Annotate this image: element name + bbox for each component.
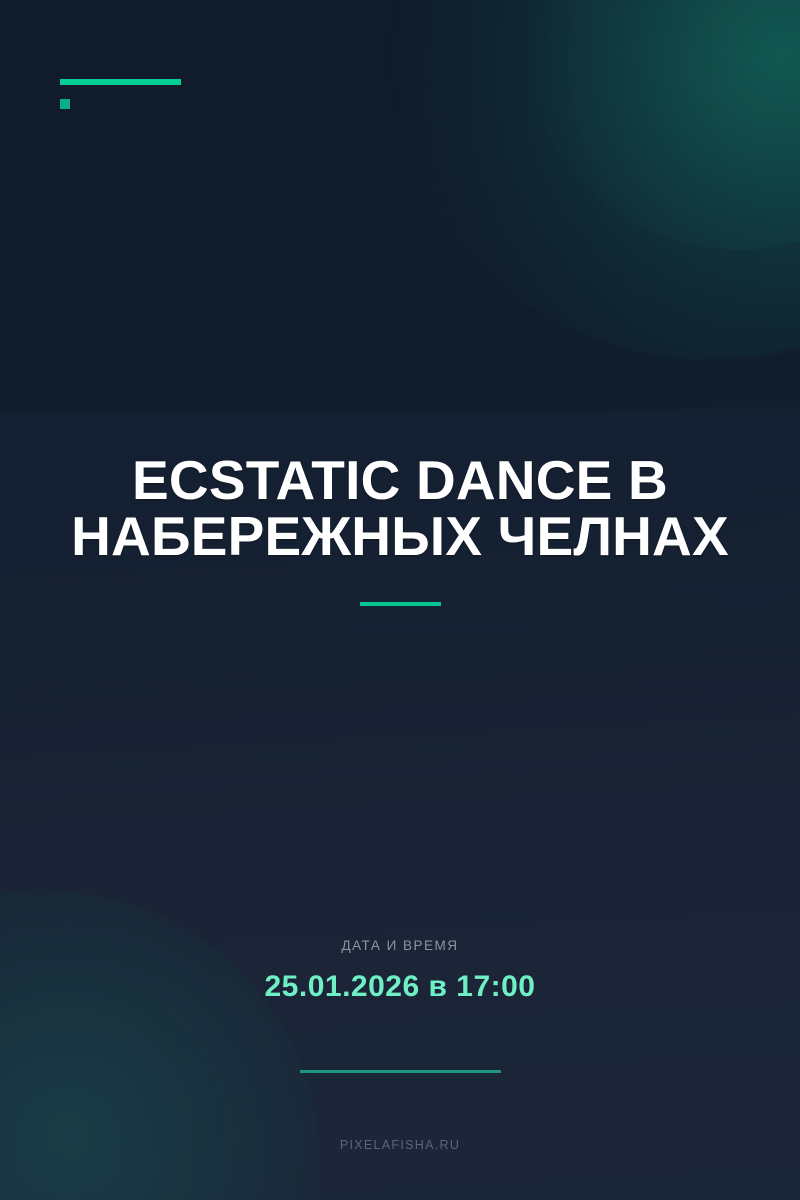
datetime-block: ДАТА И ВРЕМЯ 25.01.2026 в 17:00	[0, 938, 800, 1004]
datetime-label: ДАТА И ВРЕМЯ	[0, 938, 800, 953]
accent-square-icon	[60, 99, 70, 109]
page-title-line-2: НАБЕРЕЖНЫХ ЧЕЛНАХ	[40, 508, 760, 564]
page-title: ECSTATIC DANCE В НАБЕРЕЖНЫХ ЧЕЛНАХ	[40, 452, 760, 564]
title-block: ECSTATIC DANCE В НАБЕРЕЖНЫХ ЧЕЛНАХ	[0, 452, 800, 606]
footer-divider	[300, 1070, 501, 1073]
accent-bar-icon	[60, 79, 181, 85]
datetime-value: 25.01.2026 в 17:00	[0, 970, 800, 1004]
page-title-line-1: ECSTATIC DANCE В	[40, 452, 760, 508]
footer-site-label: PIXELAFISHA.RU	[0, 1138, 800, 1152]
event-poster: ECSTATIC DANCE В НАБЕРЕЖНЫХ ЧЕЛНАХ ДАТА …	[0, 0, 800, 1200]
title-underline-rule	[360, 602, 441, 606]
